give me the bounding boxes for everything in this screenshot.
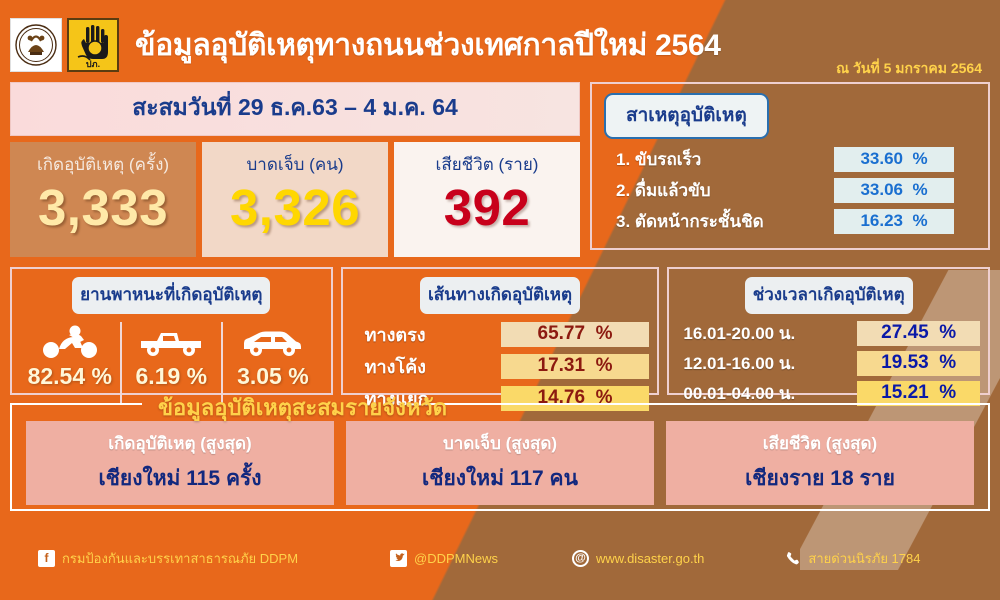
vehicle-item-motorcycle: 82.54 %: [20, 322, 122, 404]
footer-twitter-label: @DDPMNews: [414, 551, 498, 566]
time-row: 12.01-16.00 น. 19.53 %: [677, 350, 980, 377]
route-row: ทางตรง 65.77 %: [351, 320, 650, 349]
twitter-icon: [390, 550, 407, 567]
summary-card-value: 392: [444, 180, 531, 235]
facebook-icon: f: [38, 550, 55, 567]
motorcycle-icon: [39, 322, 101, 362]
route-value: 65.77 %: [501, 322, 650, 347]
poster-header: ปภ. ข้อมูลอุบัติเหตุทางถนนช่วงเทศกาลปีให…: [0, 0, 1000, 82]
time-value: 27.45 %: [857, 321, 980, 346]
cause-row: 2. ดื่มแล้วขับ 33.06 %: [604, 177, 976, 204]
vehicle-percentage: 3.05 %: [237, 363, 309, 390]
province-section-title: ข้อมูลอุบัติเหตุสะสมรายจังหวัด: [150, 390, 455, 425]
causes-list: 1. ขับรถเร็ว 33.60 % 2. ดื่มแล้วขับ 33.0…: [604, 146, 976, 235]
times-panel-title: ช่วงเวลาเกิดอุบัติเหตุ: [745, 277, 913, 314]
summary-card-value: 3,326: [230, 180, 360, 235]
cause-value: 16.23 %: [834, 209, 954, 234]
cause-value: 33.60 %: [834, 147, 954, 172]
footer-hotline[interactable]: สายด่วนนิรภัย 1784: [784, 548, 920, 569]
as-of-date: ณ วันที่ 5 มกราคม 2564: [836, 58, 982, 80]
time-label: 16.01-20.00 น.: [677, 320, 857, 347]
summary-card-accidents: เกิดอุบัติเหตุ (ครั้ง) 3,333: [10, 142, 196, 257]
summary-card-label: เสียชีวิต (ราย): [436, 151, 539, 178]
car-icon: [239, 322, 307, 362]
details-row: ยานพาหนะที่เกิดอุบัติเหตุ: [0, 257, 1000, 395]
routes-panel-title: เส้นทางเกิดอุบัติเหตุ: [420, 277, 580, 314]
route-value: 17.31 %: [501, 354, 650, 379]
period-label: สะสมวันที่ 29 ธ.ค.63 – 4 ม.ค. 64: [10, 82, 580, 136]
at-sign-icon: @: [572, 550, 589, 567]
summary-and-causes-row: สะสมวันที่ 29 ธ.ค.63 – 4 ม.ค. 64 เกิดอุบ…: [0, 82, 1000, 257]
times-panel: ช่วงเวลาเกิดอุบัติเหตุ 16.01-20.00 น. 27…: [667, 267, 990, 395]
footer-contact-bar: f กรมป้องกันและบรรเทาสาธารณภัย DDPM @DDP…: [0, 544, 1000, 572]
causes-panel-title: สาเหตุอุบัติเหตุ: [604, 93, 769, 139]
routes-panel: เส้นทางเกิดอุบัติเหตุ ทางตรง 65.77 % ทาง…: [341, 267, 660, 395]
pickup-truck-icon: [137, 322, 205, 362]
summary-card-deaths: เสียชีวิต (ราย) 392: [394, 142, 580, 257]
cause-row: 3. ตัดหน้ากระชั้นชิด 16.23 %: [604, 208, 976, 235]
summary-card-label: เกิดอุบัติเหตุ (ครั้ง): [37, 151, 169, 178]
ddpm-logo-icon: ปภ.: [67, 18, 119, 72]
summary-card-label: บาดเจ็บ (คน): [247, 151, 344, 178]
footer-website-label: www.disaster.go.th: [596, 551, 704, 566]
page-title: ข้อมูลอุบัติเหตุทางถนนช่วงเทศกาลปีใหม่ 2…: [135, 22, 721, 69]
footer-twitter[interactable]: @DDPMNews: [390, 550, 498, 567]
footer-hotline-label: สายด่วนนิรภัย 1784: [808, 548, 920, 569]
vehicles-panel-title: ยานพาหนะที่เกิดอุบัติเหตุ: [72, 277, 270, 314]
ministry-of-interior-emblem-icon: [10, 18, 62, 72]
summary-card-injured: บาดเจ็บ (คน) 3,326: [202, 142, 388, 257]
cause-label: 3. ตัดหน้ากระชั้นชิด: [604, 208, 834, 235]
cause-value: 33.06 %: [834, 178, 954, 203]
causes-panel: สาเหตุอุบัติเหตุ 1. ขับรถเร็ว 33.60 % 2.…: [590, 82, 990, 250]
route-label: ทางตรง: [351, 320, 501, 349]
svg-text:ปภ.: ปภ.: [86, 59, 100, 69]
footer-facebook[interactable]: f กรมป้องกันและบรรเทาสาธารณภัย DDPM: [38, 548, 298, 569]
summary-cards: เกิดอุบัติเหตุ (ครั้ง) 3,333 บาดเจ็บ (คน…: [10, 142, 580, 257]
cause-label: 1. ขับรถเร็ว: [604, 146, 834, 173]
summary-section: สะสมวันที่ 29 ธ.ค.63 – 4 ม.ค. 64 เกิดอุบ…: [10, 82, 580, 257]
vehicle-percentage: 82.54 %: [28, 363, 112, 390]
infographic-poster: ปภ. ข้อมูลอุบัติเหตุทางถนนช่วงเทศกาลปีให…: [0, 0, 1000, 600]
cause-label: 2. ดื่มแล้วขับ: [604, 177, 834, 204]
time-row: 16.01-20.00 น. 27.45 %: [677, 320, 980, 347]
route-label: ทางโค้ง: [351, 352, 501, 381]
summary-card-value: 3,333: [38, 180, 168, 235]
times-list: 16.01-20.00 น. 27.45 % 12.01-16.00 น. 19…: [677, 320, 980, 407]
footer-facebook-label: กรมป้องกันและบรรเทาสาธารณภัย DDPM: [62, 548, 298, 569]
province-section: ข้อมูลอุบัติเหตุสะสมรายจังหวัด เกิดอุบัต…: [10, 403, 990, 511]
footer-website[interactable]: @ www.disaster.go.th: [572, 550, 704, 567]
vehicle-percentage: 6.19 %: [136, 363, 208, 390]
time-label: 12.01-16.00 น.: [677, 350, 857, 377]
vehicles-panel: ยานพาหนะที่เกิดอุบัติเหตุ: [10, 267, 333, 395]
logo-group: ปภ.: [10, 18, 119, 72]
phone-icon: [784, 550, 801, 567]
time-value: 19.53 %: [857, 351, 980, 376]
cause-row: 1. ขับรถเร็ว 33.60 %: [604, 146, 976, 173]
route-row: ทางโค้ง 17.31 %: [351, 352, 650, 381]
